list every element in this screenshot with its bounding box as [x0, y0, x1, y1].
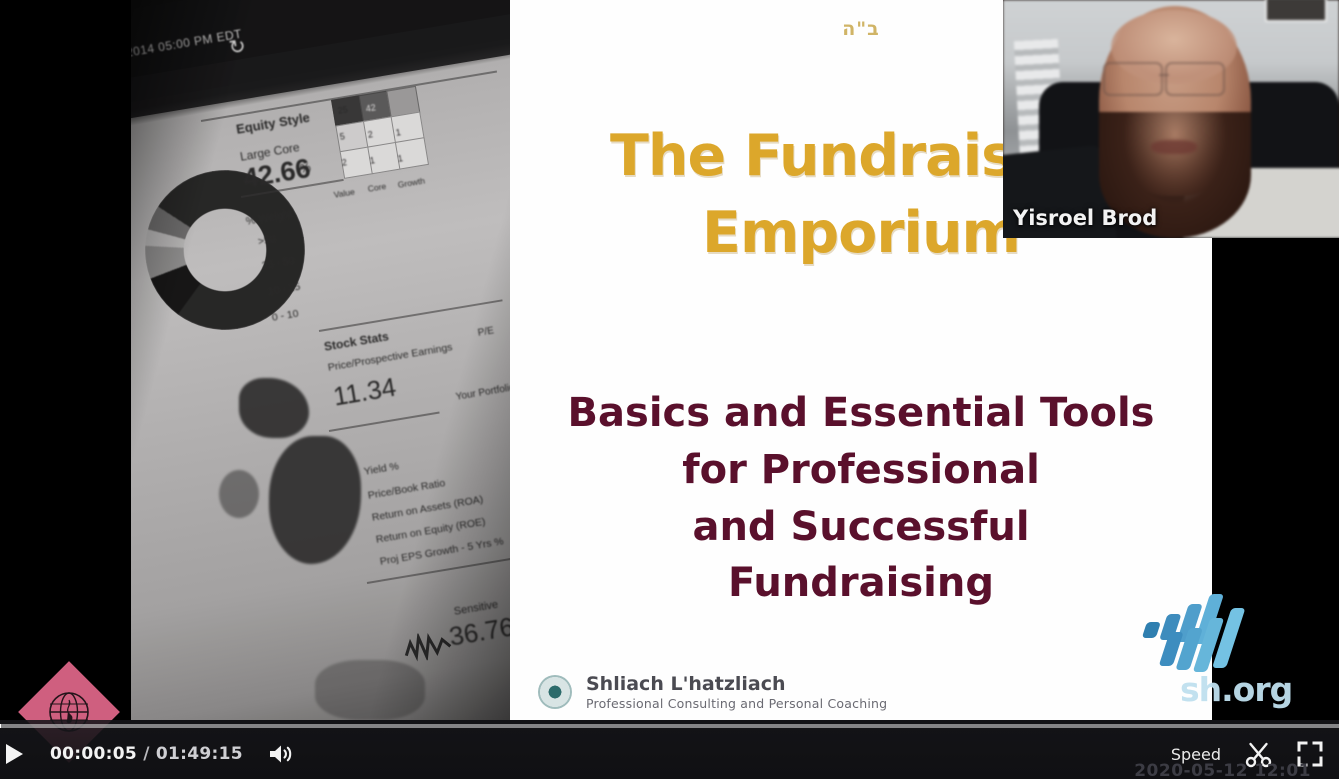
photo-grid-axis-1: Core [367, 181, 387, 194]
participant-name-label: Yisroel Brod [1013, 206, 1157, 230]
photo-grid-value-1: 42 [365, 102, 377, 114]
photo-grid-value-2: 5 [339, 131, 346, 142]
slide-subtitle: Basics and Essential Tools for Professio… [510, 385, 1212, 612]
photo-weight-label: % Weight [245, 208, 293, 228]
photo-equity-style-percent: 42.66 [241, 153, 313, 195]
photo-metric-3: Return on Equity (ROE) [375, 516, 486, 546]
photo-grid-value-5: 2 [341, 157, 348, 168]
play-button[interactable] [0, 734, 34, 774]
photo-metric-4: Proj EPS Growth - 5 Yrs % [379, 535, 505, 568]
slide-subtitle-line-4: Fundraising [510, 555, 1212, 612]
photo-portfolio-label: Your Portfolio [455, 382, 510, 403]
photo-grid-value-0: 25 [337, 104, 349, 116]
photo-weight-legend-0: >50 [257, 233, 277, 248]
slide-footer: Shliach L'hatzliach Professional Consult… [538, 673, 1178, 712]
photo-metric-1: Price/Book Ratio [367, 477, 446, 502]
recording-date: 2020-05-12 12:01 [1134, 761, 1311, 779]
slide-subtitle-line-3: and Successful [510, 499, 1212, 556]
photo-equity-style-label: Equity Style [235, 110, 311, 137]
photo-pe-label: Price/Prospective Earnings [327, 341, 453, 374]
slide-footer-name: Shliach L'hatzliach [586, 673, 887, 697]
photo-equity-style-value-label: Large Core [239, 140, 301, 164]
photo-grid-value-3: 2 [367, 129, 374, 140]
photo-donut-chart [133, 158, 316, 341]
photo-header-timestamp: 2014 05:00 PM EDT [131, 27, 243, 60]
refresh-icon: ↻ [227, 33, 248, 60]
photo-grid-axis-2: Growth [397, 175, 426, 189]
photo-weight-legend-2: 10 - 25 [267, 281, 301, 298]
time-separator: / [143, 744, 150, 764]
duration: 01:49:15 [156, 744, 243, 764]
webcam-glasses-bridge [1159, 74, 1169, 76]
photo-screen-header-bar-secondary [131, 5, 510, 127]
progress-buffered [0, 724, 1339, 728]
photo-grid-value-7: 1 [397, 153, 404, 164]
photo-metric-0: Yield % [363, 460, 400, 478]
volume-icon [267, 742, 295, 766]
photo-sensitive-value: 36.76 [447, 611, 510, 652]
photo-grid-value-4: 1 [395, 127, 402, 138]
webcam-glasses-right [1165, 62, 1225, 96]
video-player: 2014 05:00 PM EDT ↻ Equity Style Large C… [0, 0, 1339, 779]
webcam-mouth [1151, 140, 1197, 154]
photo-metric-2: Return on Assets (ROA) [371, 493, 484, 523]
slide-footer-tagline: Professional Consulting and Personal Coa… [586, 696, 887, 712]
photo-pe-header: P/E [477, 325, 495, 339]
letterbox-left [0, 0, 131, 720]
photo-sparkline-icon [401, 628, 455, 664]
photo-weight-legend-1: 25 - 50 [261, 255, 295, 272]
progress-played [0, 724, 1, 728]
video-stage[interactable]: 2014 05:00 PM EDT ↻ Equity Style Large C… [0, 0, 1339, 779]
time-display: 00:00:05 / 01:49:15 [50, 744, 243, 764]
photo-sensitive-label: Sensitive [453, 599, 499, 618]
slide-subtitle-line-1: Basics and Essential Tools [510, 385, 1212, 442]
shliach-logo-icon [538, 675, 572, 709]
photo-weight-legend-3: 0 - 10 [271, 308, 299, 324]
play-icon [4, 743, 24, 765]
webcam-wall-frame [1265, 0, 1327, 22]
photo-pe-value: 11.34 [331, 372, 398, 413]
progress-bar[interactable] [0, 724, 1339, 728]
photo-screen-header-bar [131, 0, 510, 107]
volume-button[interactable] [261, 734, 301, 774]
finance-dashboard-photo: 2014 05:00 PM EDT ↻ Equity Style Large C… [131, 0, 510, 720]
photo-grid-axis-0: Value [333, 187, 355, 200]
webcam-overlay[interactable]: Yisroel Brod [1003, 0, 1339, 238]
photo-stock-stats-label: Stock Stats [323, 329, 390, 354]
current-time: 00:00:05 [50, 744, 137, 764]
slide-subtitle-line-2: for Professional [510, 442, 1212, 499]
player-controls: 00:00:05 / 01:49:15 Speed [0, 720, 1339, 779]
photo-percent-symbol: % [299, 160, 312, 176]
photo-grid-value-6: 1 [369, 155, 376, 166]
webcam-glasses-left [1103, 62, 1163, 96]
